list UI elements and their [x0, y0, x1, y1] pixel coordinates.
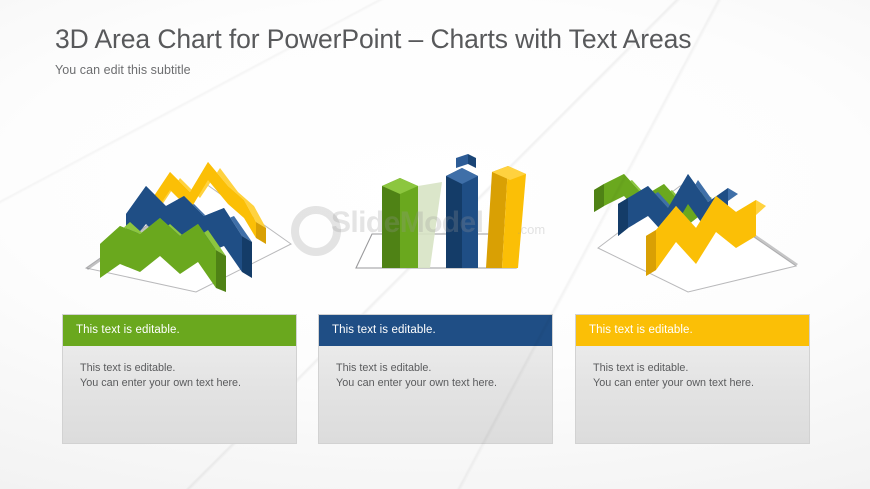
- slide-canvas: 3D Area Chart for PowerPoint – Charts wi…: [0, 0, 870, 489]
- chart-left-graphic: [38, 140, 328, 295]
- card-body-line-2: You can enter your own text here.: [593, 376, 797, 391]
- slide-header: 3D Area Chart for PowerPoint – Charts wi…: [55, 24, 845, 77]
- page-title: 3D Area Chart for PowerPoint – Charts wi…: [55, 24, 845, 54]
- card-header-yellow[interactable]: This text is editable.: [576, 315, 809, 346]
- 3d-area-chart-center[interactable]: [290, 140, 580, 295]
- card-body-green[interactable]: This text is editable. You can enter you…: [63, 346, 296, 392]
- text-card-blue[interactable]: This text is editable. This text is edit…: [318, 314, 553, 444]
- card-body-line-1: This text is editable.: [80, 361, 284, 376]
- card-body-blue[interactable]: This text is editable. You can enter you…: [319, 346, 552, 392]
- text-cards-row: This text is editable. This text is edit…: [0, 314, 870, 446]
- 3d-area-chart-right[interactable]: [560, 140, 850, 295]
- card-header-blue[interactable]: This text is editable.: [319, 315, 552, 346]
- card-body-yellow[interactable]: This text is editable. You can enter you…: [576, 346, 809, 392]
- charts-row: [0, 140, 870, 295]
- card-body-line-1: This text is editable.: [336, 361, 540, 376]
- card-body-line-2: You can enter your own text here.: [80, 376, 284, 391]
- text-card-green[interactable]: This text is editable. This text is edit…: [62, 314, 297, 444]
- page-subtitle: You can edit this subtitle: [55, 63, 845, 77]
- chart-right-graphic: [560, 140, 850, 295]
- card-body-line-1: This text is editable.: [593, 361, 797, 376]
- card-header-green[interactable]: This text is editable.: [63, 315, 296, 346]
- series-yellow-center: [486, 166, 526, 268]
- 3d-area-chart-left[interactable]: [38, 140, 328, 295]
- series-blue-center: [446, 154, 478, 268]
- card-body-line-2: You can enter your own text here.: [336, 376, 540, 391]
- text-card-yellow[interactable]: This text is editable. This text is edit…: [575, 314, 810, 444]
- chart-center-graphic: [290, 140, 580, 295]
